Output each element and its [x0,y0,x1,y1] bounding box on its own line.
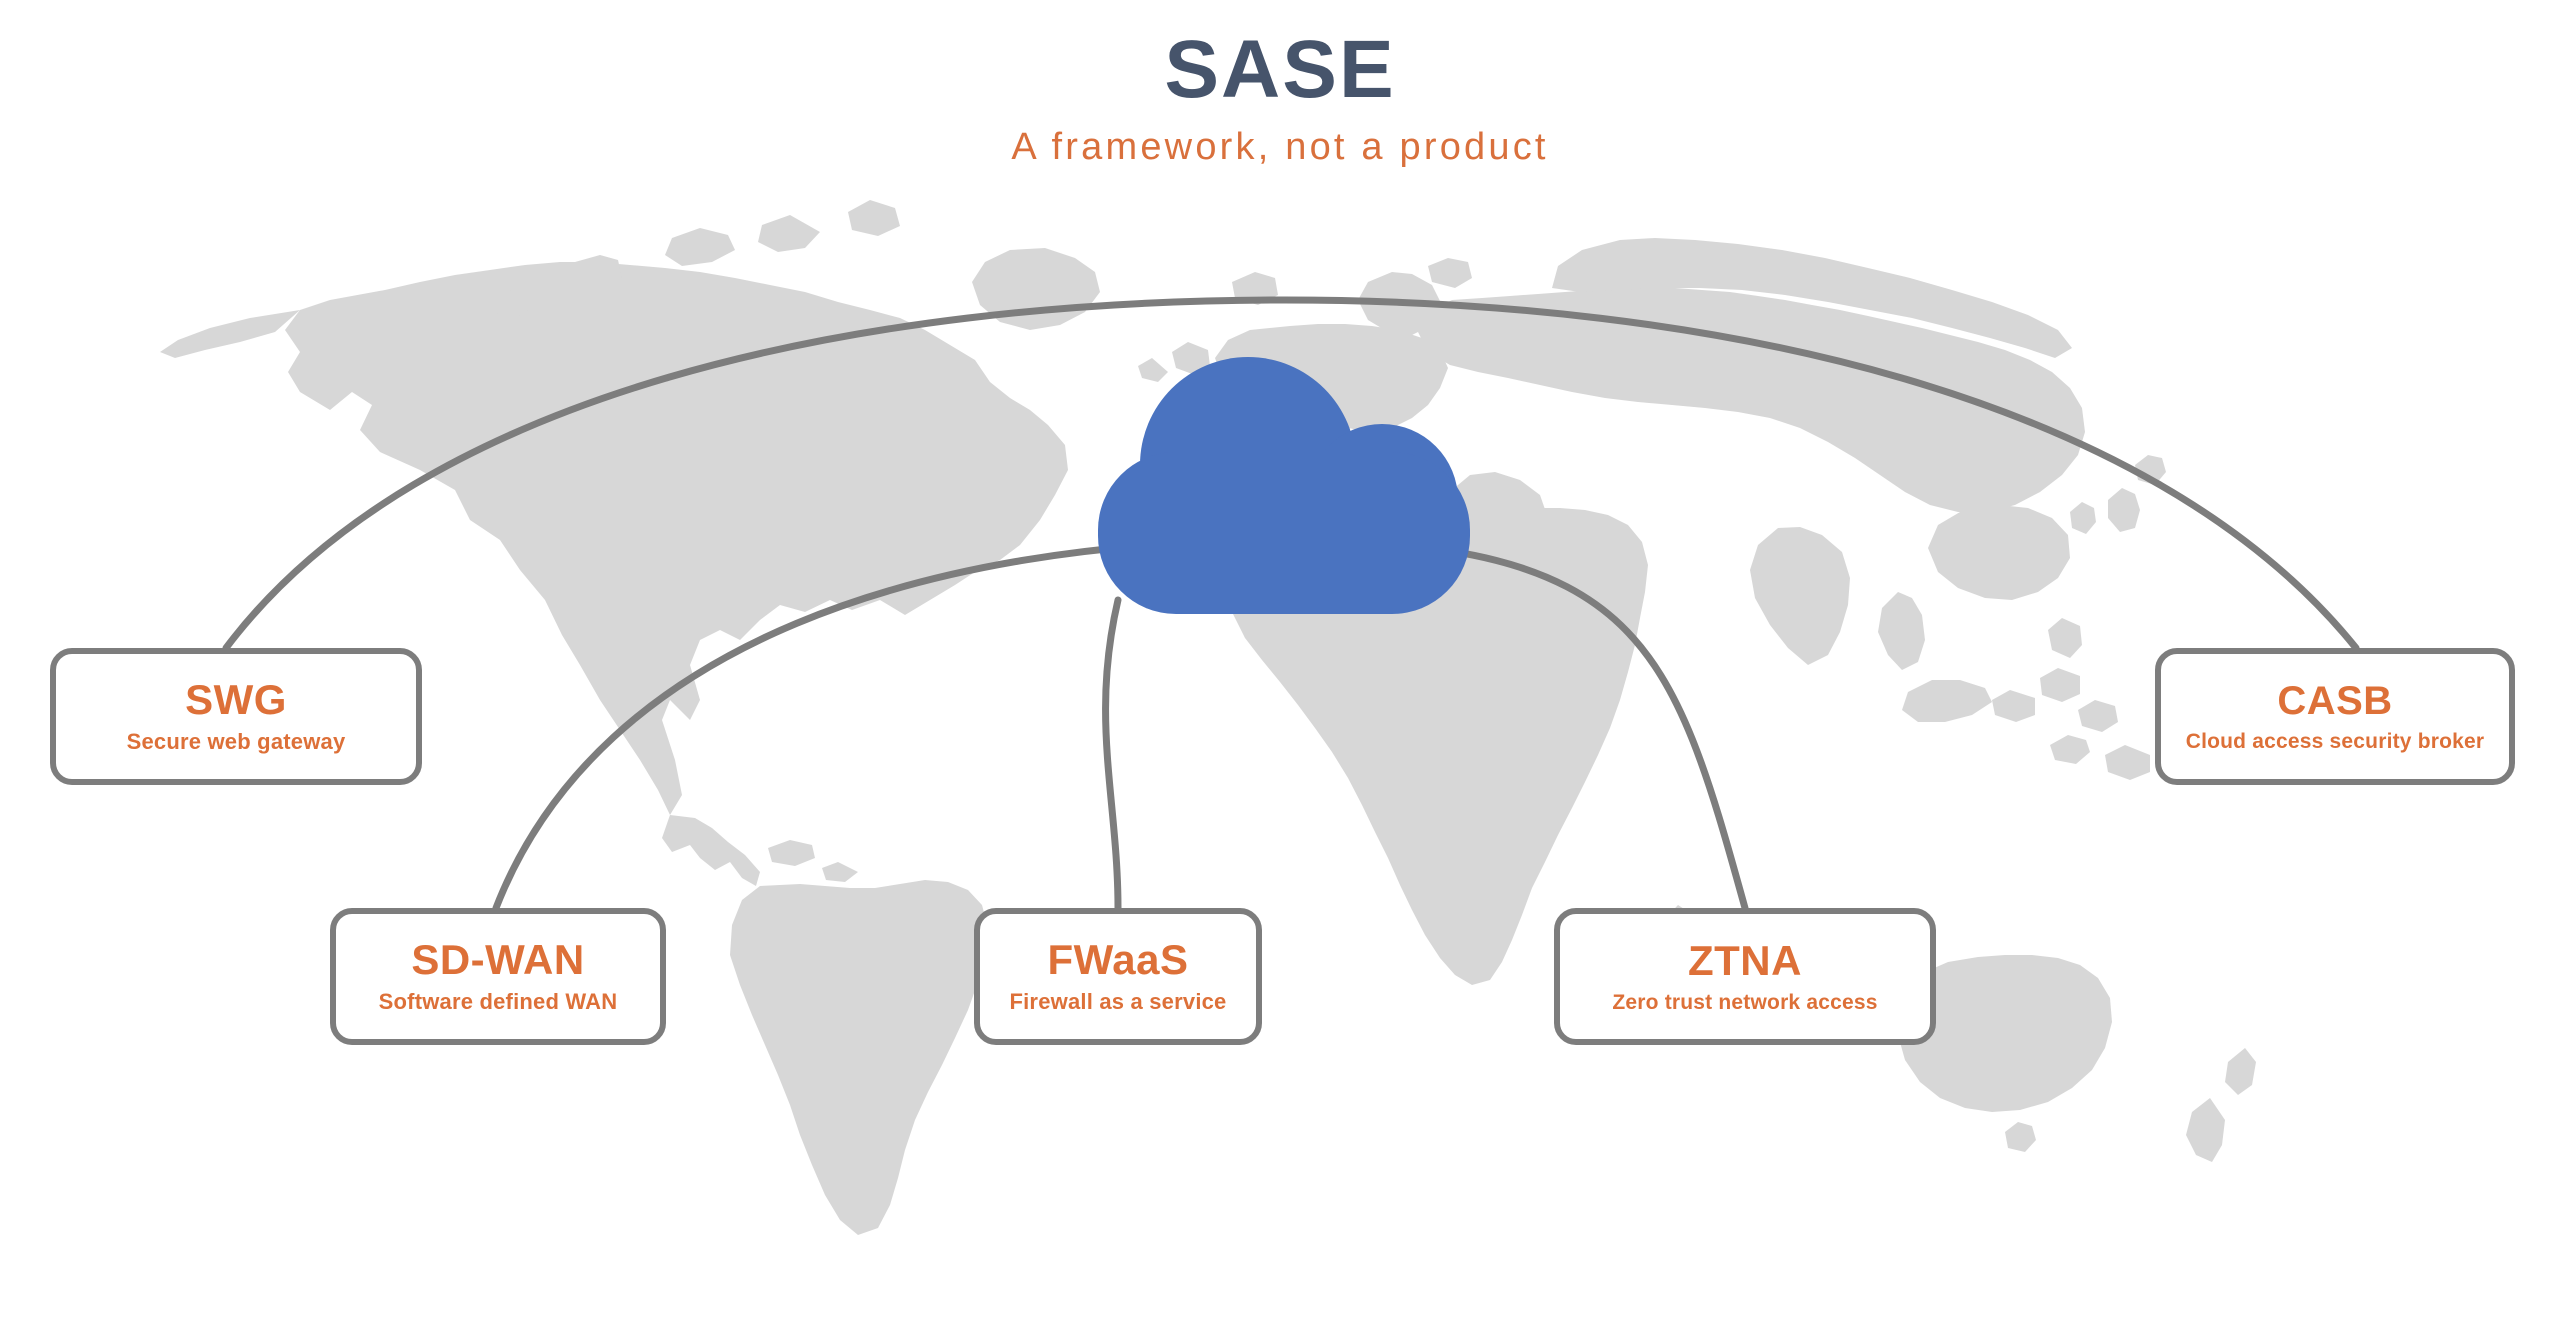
node-ztna-acronym: ZTNA [1688,939,1802,983]
node-swg[interactable]: SWG Secure web gateway [50,648,422,785]
node-sdwan[interactable]: SD-WAN Software defined WAN [330,908,666,1045]
node-fwaas-acronym: FWaaS [1048,938,1189,982]
node-swg-acronym: SWG [185,678,287,722]
page-subtitle: A framework, not a product [0,126,2560,169]
node-fwaas[interactable]: FWaaS Firewall as a service [974,908,1262,1045]
node-swg-description: Secure web gateway [127,730,346,754]
node-casb[interactable]: CASB Cloud access security broker [2155,648,2515,785]
page-title: SASE [0,28,2560,112]
node-sdwan-acronym: SD-WAN [411,938,584,982]
node-ztna[interactable]: ZTNA Zero trust network access [1554,908,1936,1045]
node-sdwan-description: Software defined WAN [379,990,618,1014]
node-casb-acronym: CASB [2277,680,2392,722]
node-ztna-description: Zero trust network access [1612,991,1877,1014]
header: SASE A framework, not a product [0,28,2560,169]
diagram-canvas: SASE A framework, not a product SWG Secu… [0,0,2560,1331]
node-casb-description: Cloud access security broker [2186,730,2485,753]
node-fwaas-description: Firewall as a service [1009,990,1226,1014]
